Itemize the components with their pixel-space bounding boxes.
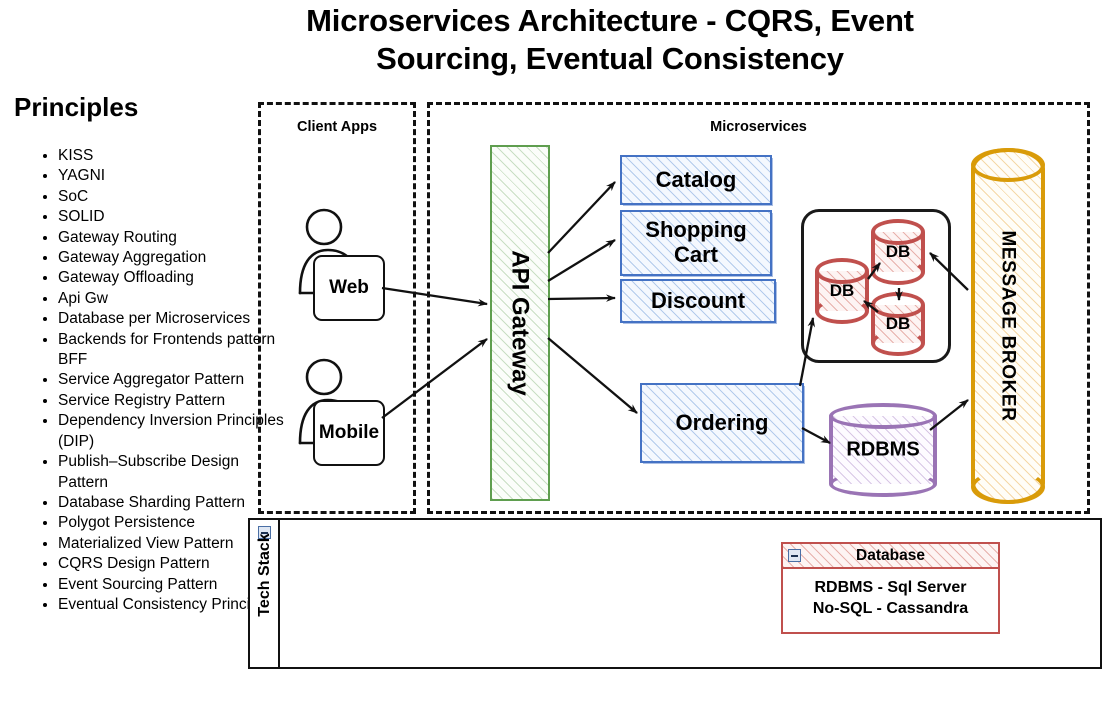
page-title: Microservices Architecture - CQRS, Event… xyxy=(240,2,980,78)
api-gateway-label: API Gateway xyxy=(506,250,534,395)
service-shopping-cart[interactable]: Shopping Cart xyxy=(620,210,772,276)
client-mobile-box[interactable]: Mobile xyxy=(313,400,385,466)
list-item: SoC xyxy=(58,187,290,207)
list-item: Gateway Aggregation xyxy=(58,248,290,268)
service-catalog[interactable]: Catalog xyxy=(620,155,772,205)
tech-stack-container: Tech Stack Database RDBMS - Sql Server N… xyxy=(248,518,1102,669)
client-web-label: Web xyxy=(329,277,369,299)
tech-stack-label: Tech Stack xyxy=(256,522,274,628)
message-broker-cylinder[interactable]: MESSAGE BROKER xyxy=(971,148,1045,504)
list-item: Backends for Frontends pattern BFF xyxy=(58,330,290,371)
client-apps-label: Client Apps xyxy=(261,119,413,135)
db-node-left[interactable]: DB xyxy=(815,258,869,324)
database-group-header: Database xyxy=(783,544,998,569)
collapse-icon[interactable] xyxy=(788,549,801,562)
service-catalog-label: Catalog xyxy=(656,168,737,193)
service-discount[interactable]: Discount xyxy=(620,279,776,323)
db-node-bottom xyxy=(871,259,925,285)
list-item: Gateway Offloading xyxy=(58,268,290,288)
list-item: Publish–Subscribe Design Pattern xyxy=(58,452,290,493)
service-discount-label: Discount xyxy=(651,289,745,314)
list-item: SOLID xyxy=(58,207,290,227)
rdbms-bottom xyxy=(829,471,937,497)
principles-heading: Principles xyxy=(14,92,138,123)
db-node-left-label: DB xyxy=(815,281,869,301)
list-item: Service Registry Pattern xyxy=(58,391,290,411)
db-node-top[interactable]: DB xyxy=(871,219,925,285)
client-web-box[interactable]: Web xyxy=(313,255,385,321)
tech-stack-tab[interactable]: Tech Stack xyxy=(250,520,280,667)
list-item: Dependency Inversion Principles (DIP) xyxy=(58,411,290,452)
message-broker-label: MESSAGE BROKER xyxy=(997,230,1019,421)
list-item: Api Gw xyxy=(58,289,290,309)
database-group-title: Database xyxy=(801,547,980,565)
db-node-bottom-label: DB xyxy=(871,314,925,334)
service-ordering[interactable]: Ordering xyxy=(640,383,804,463)
database-line-rdbms: RDBMS - Sql Server xyxy=(814,577,966,598)
list-item: YAGNI xyxy=(58,166,290,186)
microservices-label: Microservices xyxy=(430,119,1087,135)
api-gateway-box[interactable]: API Gateway xyxy=(490,145,550,501)
rdbms-top xyxy=(829,403,937,429)
list-item: Database per Microservices xyxy=(58,309,290,329)
service-ordering-label: Ordering xyxy=(676,411,769,436)
service-shopping-cart-label: Shopping Cart xyxy=(622,218,770,267)
db-node-top-label: DB xyxy=(871,242,925,262)
db-node-bottom xyxy=(815,298,869,324)
list-item: Service Aggregator Pattern xyxy=(58,370,290,390)
db-node-bottom[interactable]: DB xyxy=(871,292,925,356)
database-group-body: RDBMS - Sql Server No-SQL - Cassandra xyxy=(783,569,998,632)
database-line-nosql: No-SQL - Cassandra xyxy=(813,598,968,619)
rdbms-cylinder[interactable]: RDBMS xyxy=(829,403,937,497)
client-mobile-label: Mobile xyxy=(319,422,379,444)
list-item: Database Sharding Pattern xyxy=(58,493,290,513)
rdbms-label: RDBMS xyxy=(829,439,937,462)
list-item: Gateway Routing xyxy=(58,228,290,248)
database-group[interactable]: Database RDBMS - Sql Server No-SQL - Cas… xyxy=(781,542,1000,634)
list-item: KISS xyxy=(58,146,290,166)
